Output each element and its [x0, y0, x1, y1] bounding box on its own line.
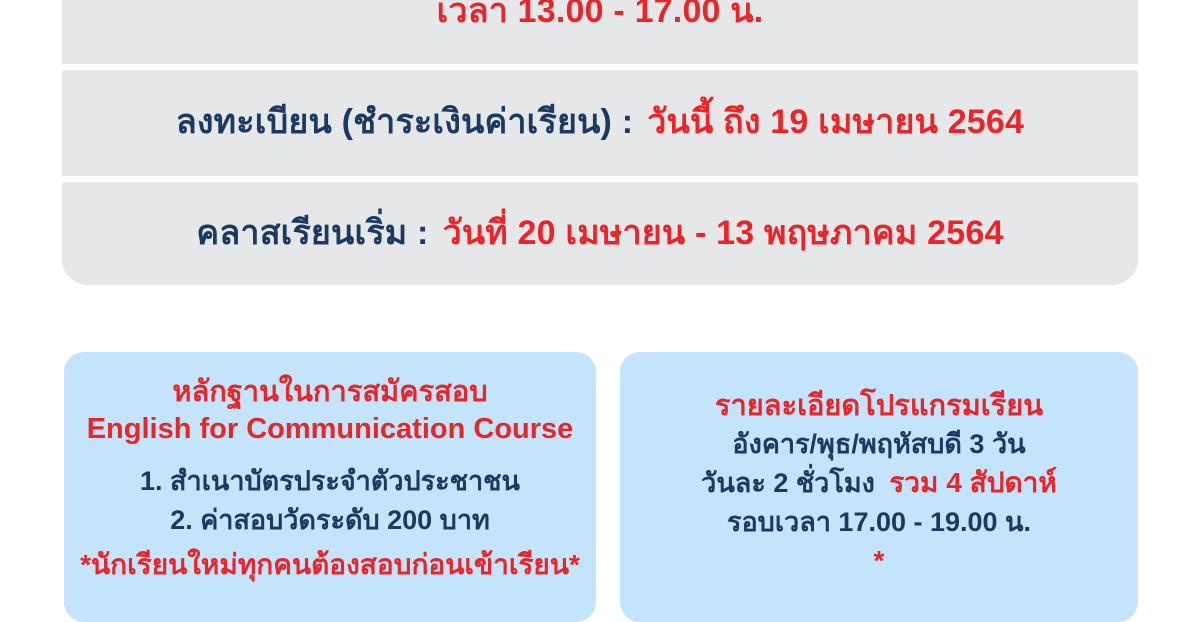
class-start-date: วันที่ 20 เมษายน - 13 พฤษภาคม 2564 — [443, 215, 1004, 252]
class-start-label: คลาสเรียนเริ่ม : — [196, 215, 428, 252]
schedule-row-class-start: คลาสเรียนเริ่ม : วันที่ 20 เมษายน - 13 พ… — [62, 182, 1138, 285]
documents-item-1: 1. สำเนาบัตรประจำตัวประชาชน — [74, 462, 586, 501]
program-title: รายละเอียดโปรแกรมเรียน — [630, 388, 1128, 425]
program-days: อังคาร/พุธ/พฤหัสบดี 3 วัน — [630, 425, 1128, 464]
documents-note: *นักเรียนใหม่ทุกคนต้องสอบก่อนเข้าเรียน* — [74, 547, 586, 583]
program-spacer-top — [630, 374, 1128, 388]
documents-title-th: หลักฐานในการสมัครสอบ — [74, 374, 586, 411]
registration-label: ลงทะเบียน (ชำระเงินค่าเรียน) : — [176, 104, 633, 141]
schedule-row-registration: ลงทะเบียน (ชำระเงินค่าเรียน) : วันนี้ ถึ… — [62, 70, 1138, 176]
schedule-row-exam-time: เวลา 13.00 - 17.00 น. — [62, 0, 1138, 64]
card-program-details: รายละเอียดโปรแกรมเรียน อังคาร/พุธ/พฤหัสบ… — [620, 352, 1138, 622]
registration-date: วันนี้ ถึง 19 เมษายน 2564 — [647, 104, 1024, 141]
info-cards: หลักฐานในการสมัครสอบ English for Communi… — [64, 352, 1138, 622]
exam-time-text: เวลา 13.00 - 17.00 น. — [437, 0, 764, 31]
program-hours-red: รวม 4 สัปดาห์ — [889, 467, 1057, 498]
program-hours-line: วันละ 2 ชั่วโมง รวม 4 สัปดาห์ — [630, 464, 1128, 503]
program-hours-navy: วันละ 2 ชั่วโมง — [701, 468, 875, 498]
program-clipped-line: * — [630, 543, 1128, 579]
schedule-panel: เวลา 13.00 - 17.00 น. ลงทะเบียน (ชำระเงิ… — [62, 0, 1138, 285]
documents-title-en: English for Communication Course — [74, 411, 586, 448]
documents-item-2: 2. ค่าสอบวัดระดับ 200 บาท — [74, 501, 586, 540]
documents-spacer — [74, 448, 586, 462]
card-application-documents: หลักฐานในการสมัครสอบ English for Communi… — [64, 352, 596, 622]
program-round-time: รอบเวลา 17.00 - 19.00 น. — [630, 503, 1128, 542]
